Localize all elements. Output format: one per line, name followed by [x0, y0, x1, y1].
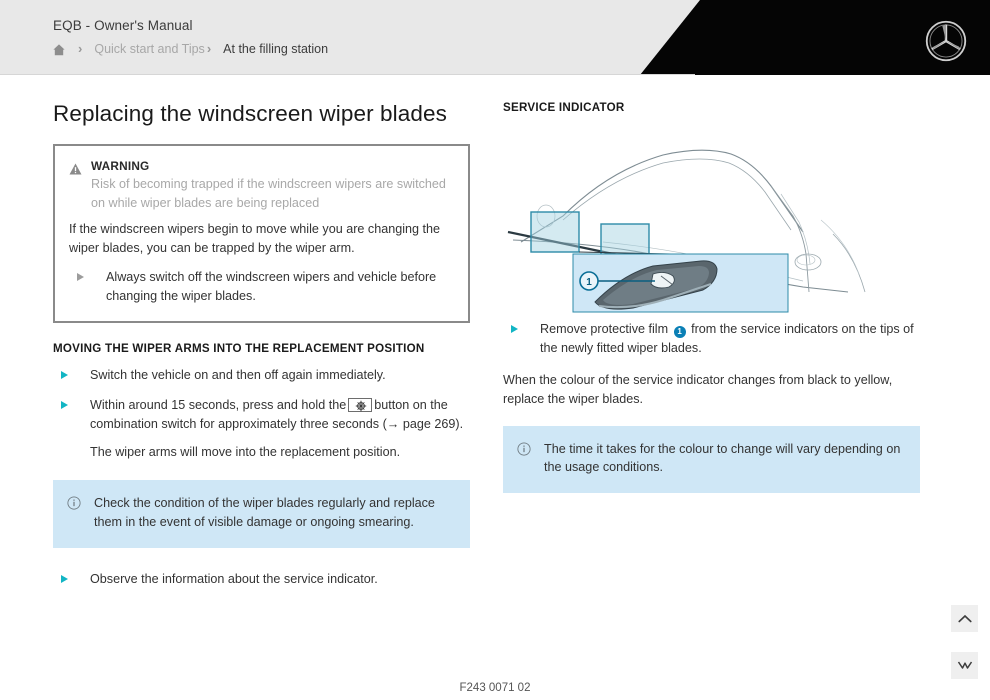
- section-heading: MOVING THE WIPER ARMS INTO THE REPLACEME…: [53, 342, 470, 355]
- page-content: Replacing the windscreen wiper blades WA…: [0, 75, 990, 700]
- info-box-right: The time it takes for the colour to chan…: [503, 426, 920, 494]
- home-icon[interactable]: [52, 43, 66, 57]
- info-text-right: The time it takes for the colour to chan…: [544, 440, 904, 478]
- right-step-text: Remove protective film 1 from the servic…: [540, 320, 920, 357]
- wiper-washer-button-icon: [348, 398, 372, 412]
- breadcrumb-separator-1: ›: [78, 41, 82, 56]
- warning-subtitle: Risk of becoming trapped if the windscre…: [91, 175, 452, 212]
- step-text: Switch the vehicle on and then off again…: [90, 366, 470, 385]
- manual-page: EQB - Owner's Manual › Quick start and T…: [0, 0, 990, 700]
- step-text-2: Within around 15 seconds, press and hold…: [90, 396, 470, 462]
- warning-body: If the windscreen wipers begin to move w…: [69, 220, 452, 257]
- figure-code: F243 0071 02: [0, 682, 990, 694]
- svg-text:1: 1: [586, 277, 592, 288]
- right-paragraph: When the colour of the service indicator…: [503, 371, 920, 408]
- mercedes-star-logo: [924, 19, 968, 63]
- manual-title: EQB - Owner's Manual: [53, 18, 193, 33]
- right-step-part1: Remove protective film: [540, 322, 668, 336]
- scroll-to-top-button[interactable]: [951, 605, 978, 632]
- info-box-left: Check the condition of the wiper blades …: [53, 480, 470, 548]
- info-circle-icon: [67, 496, 81, 510]
- service-indicator-illustration: 1: [503, 124, 920, 314]
- triangle-bullet-icon: [61, 401, 68, 409]
- page-header: EQB - Owner's Manual › Quick start and T…: [0, 0, 990, 75]
- breadcrumb-separator-2: ›: [207, 41, 211, 56]
- warning-triangle-icon: [69, 163, 82, 175]
- info-text-left: Check the condition of the wiper blades …: [94, 494, 454, 532]
- triangle-bullet-icon: [61, 575, 68, 583]
- info-circle-icon: [517, 442, 531, 456]
- page-title: Replacing the windscreen wiper blades: [53, 101, 470, 127]
- breadcrumb: › Quick start and Tips › At the filling …: [52, 41, 328, 56]
- scroll-to-bottom-button[interactable]: [951, 652, 978, 679]
- callout-badge-1: 1: [674, 326, 686, 338]
- triangle-bullet-icon: [61, 371, 68, 379]
- breadcrumb-parent[interactable]: Quick start and Tips: [94, 42, 204, 56]
- step-row-1: Switch the vehicle on and then off again…: [53, 366, 470, 385]
- step2-part1: Within around 15 seconds, press and hold…: [90, 398, 346, 412]
- breadcrumb-current: At the filling station: [223, 42, 328, 56]
- step2-note: The wiper arms will move into the replac…: [90, 443, 470, 462]
- right-section-heading: SERVICE INDICATOR: [503, 101, 920, 114]
- triangle-bullet-icon: [511, 325, 518, 333]
- right-column: SERVICE INDICATOR: [503, 101, 920, 493]
- final-step-row: Observe the information about the servic…: [53, 570, 470, 589]
- chevron-up-icon: [958, 614, 972, 624]
- right-step-row: Remove protective film 1 from the servic…: [503, 320, 920, 357]
- final-step-text: Observe the information about the servic…: [90, 570, 470, 589]
- triangle-bullet-icon: [77, 273, 84, 281]
- warning-box: WARNING Risk of becoming trapped if the …: [53, 144, 470, 323]
- warning-label: WARNING: [91, 159, 452, 173]
- double-chevron-down-icon: [957, 660, 973, 672]
- warning-action-row: Always switch off the windscreen wipers …: [69, 268, 452, 305]
- warning-action-text: Always switch off the windscreen wipers …: [106, 268, 452, 305]
- left-column: Replacing the windscreen wiper blades WA…: [53, 101, 470, 588]
- step-row-2: Within around 15 seconds, press and hold…: [53, 396, 470, 462]
